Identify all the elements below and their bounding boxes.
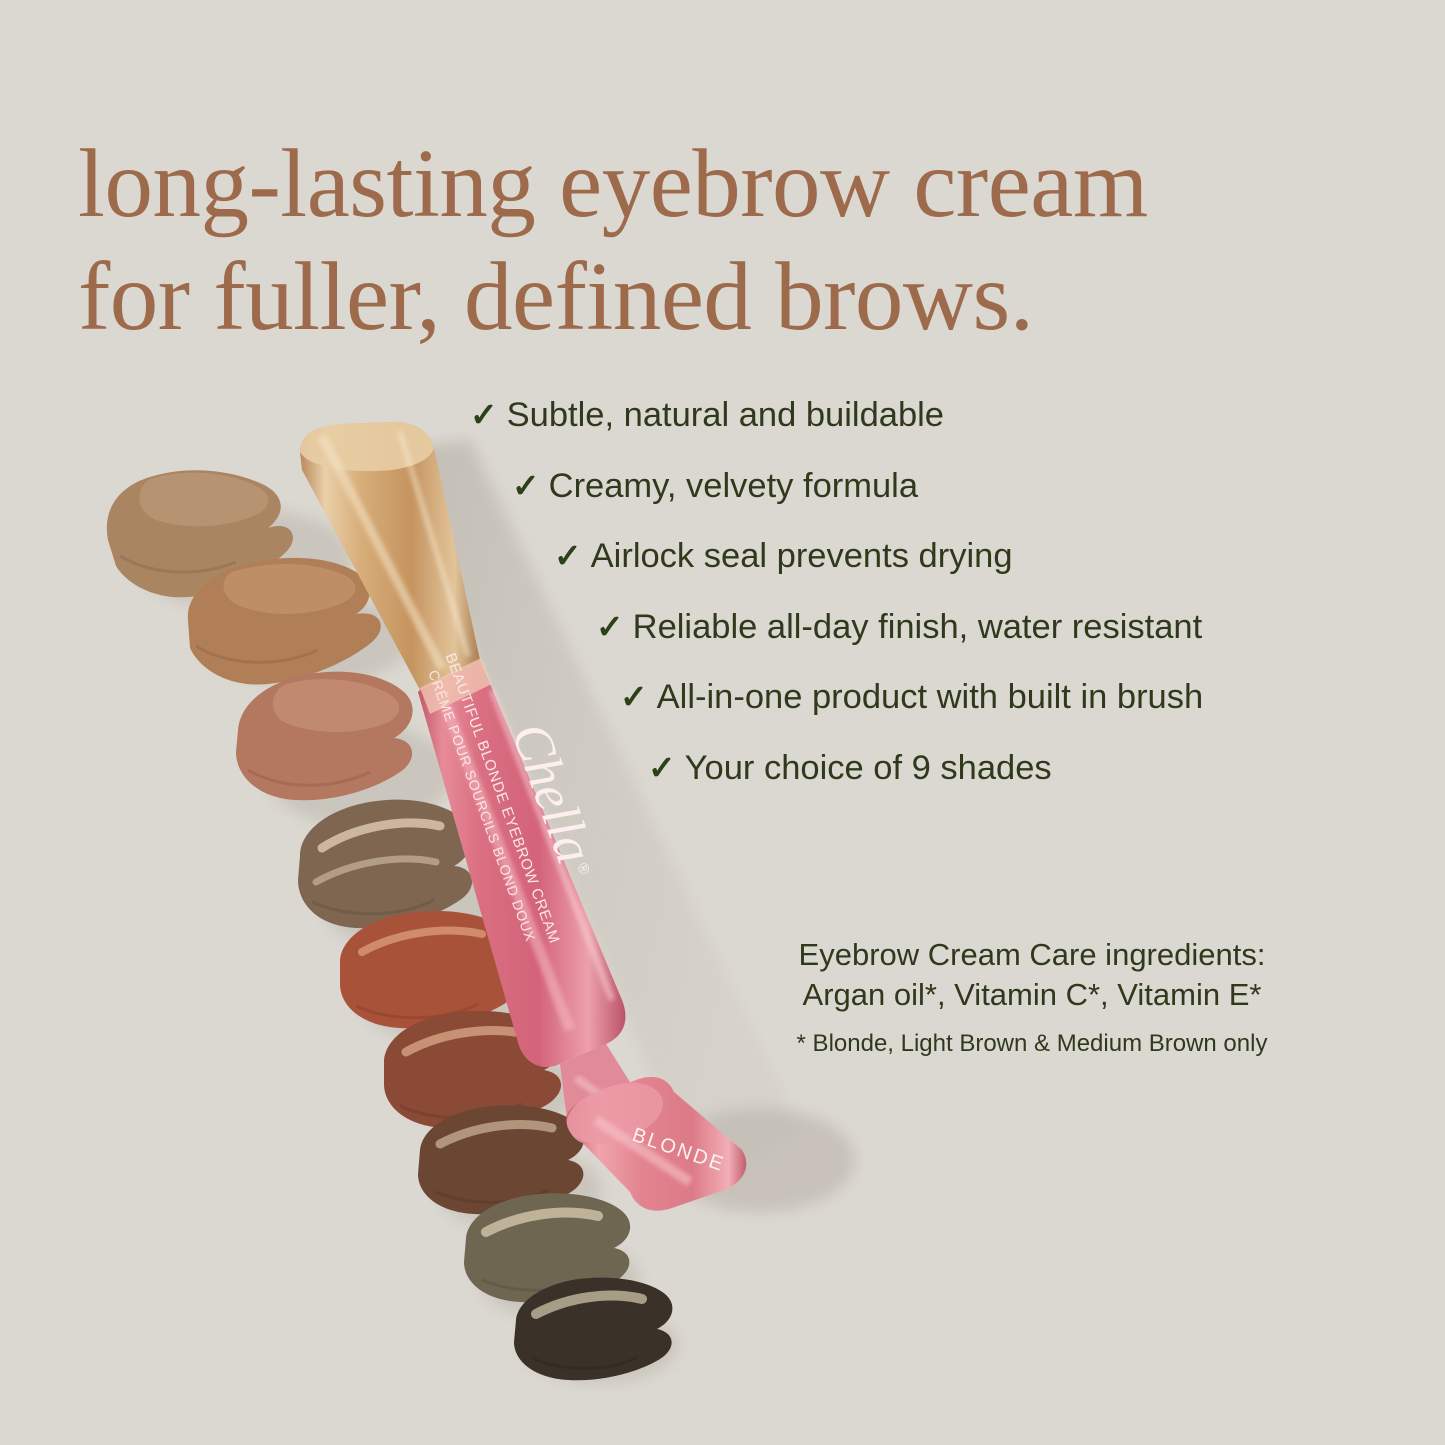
- check-icon: ✓: [470, 398, 498, 431]
- shade-name-label: BLONDE: [629, 1124, 728, 1176]
- swatch-medium-brown: [298, 800, 473, 929]
- tube-neck: [560, 1044, 644, 1144]
- swatch-auburn: [384, 1011, 561, 1128]
- benefit-item: ✓ Reliable all-day finish, water resista…: [596, 610, 1370, 645]
- benefit-item: ✓ Subtle, natural and buildable: [470, 398, 1370, 433]
- page-title: long-lasting eyebrow cream for fuller, d…: [78, 127, 1428, 354]
- headline-line-1: long-lasting eyebrow cream: [78, 130, 1148, 237]
- check-icon: ✓: [596, 610, 624, 643]
- ingredients-footnote: * Blonde, Light Brown & Medium Brown onl…: [742, 1030, 1322, 1058]
- benefit-item: ✓ Creamy, velvety formula: [512, 469, 1370, 504]
- benefit-label: Your choice of 9 shades: [685, 751, 1052, 786]
- benefit-label: Creamy, velvety formula: [549, 469, 918, 504]
- swatch-deep-brown: [418, 1105, 584, 1214]
- check-icon: ✓: [554, 539, 582, 572]
- marketing-image: BLONDE BEAUTIFUL BLONDE EYEBROW CREAM CR…: [0, 0, 1445, 1445]
- swatch-espresso: [514, 1278, 672, 1381]
- registered-mark: ®: [573, 861, 593, 877]
- headline-line-2: for fuller, defined brows.: [78, 240, 1428, 353]
- benefit-item: ✓ Your choice of 9 shades: [648, 751, 1370, 786]
- ingredients-block: Eyebrow Cream Care ingredients: Argan oi…: [742, 935, 1322, 1014]
- tube-base: BLONDE: [566, 1077, 746, 1211]
- tube-cap: [300, 422, 480, 690]
- swatch-taupe: [464, 1193, 630, 1302]
- ingredients-list: Argan oil*, Vitamin C*, Vitamin E*: [742, 975, 1322, 1015]
- benefit-label: Subtle, natural and buildable: [507, 398, 944, 433]
- benefit-item: ✓ Airlock seal prevents drying: [554, 539, 1370, 574]
- benefit-label: All-in-one product with built in brush: [657, 680, 1204, 715]
- check-icon: ✓: [512, 469, 540, 502]
- check-icon: ✓: [620, 680, 648, 713]
- check-icon: ✓: [648, 751, 676, 784]
- swatch-blonde: [107, 470, 293, 597]
- benefit-label: Airlock seal prevents drying: [591, 539, 1013, 574]
- swatch-warm-rose: [236, 672, 413, 801]
- benefit-item: ✓ All-in-one product with built in brush: [620, 680, 1370, 715]
- ingredients-heading: Eyebrow Cream Care ingredients:: [742, 935, 1322, 975]
- benefit-label: Reliable all-day finish, water resistant: [633, 610, 1203, 645]
- swatch-light-brown: [188, 558, 381, 685]
- swatch-rust: [340, 911, 517, 1028]
- benefits-list: ✓ Subtle, natural and buildable ✓ Creamy…: [470, 398, 1370, 821]
